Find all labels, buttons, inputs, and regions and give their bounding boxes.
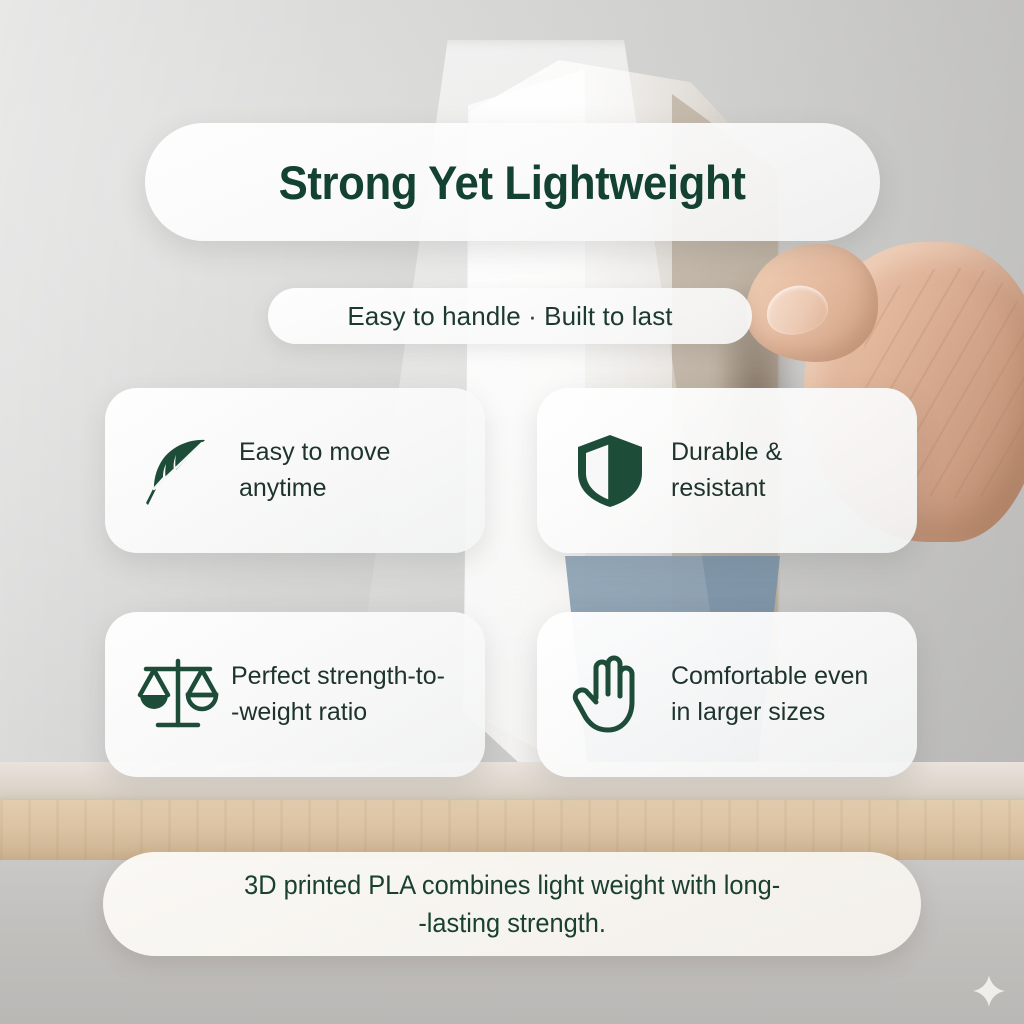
thumb [746,244,878,362]
open-hand-icon [565,650,655,740]
page-title: Strong Yet Lightweight [279,155,746,210]
feature-card-durable[interactable]: Durable & resistant [537,388,917,553]
feature-card-comfortable[interactable]: Comfortable even in larger sizes [537,612,917,777]
feature-label-line1: Durable & [671,438,782,466]
subtitle-pill: Easy to handle · Built to last [268,288,752,344]
feature-card-label: Comfortable even in larger sizes [671,659,868,730]
feather-icon [133,426,223,516]
feature-label-line1: Perfect strength-to- [231,662,445,690]
feature-card-label: Perfect strength-to- -weight ratio [231,659,445,730]
balance-scale-icon [133,650,223,740]
title-pill: Strong Yet Lightweight [145,123,880,241]
thumbnail [761,279,833,341]
feature-card-easy-to-move[interactable]: Easy to move anytime [105,388,485,553]
feature-label-line2: -weight ratio [231,698,367,726]
footer-caption: 3D printed PLA combines light weight wit… [244,866,780,943]
shield-icon [565,426,655,516]
infographic-canvas: Strong Yet Lightweight Easy to handle · … [0,0,1024,1024]
feature-card-strength-to-weight[interactable]: Perfect strength-to- -weight ratio [105,612,485,777]
feature-label-line2: resistant [671,474,765,502]
footer-pill: 3D printed PLA combines light weight wit… [103,852,921,956]
sparkle-icon [972,974,1006,1008]
feature-label-line2: in larger sizes [671,698,825,726]
feature-label-line2: anytime [239,474,327,502]
feature-card-label: Durable & resistant [671,435,782,506]
feature-label-line1: Comfortable even [671,662,868,690]
feature-label-line1: Easy to move [239,438,390,466]
page-subtitle: Easy to handle · Built to last [347,301,672,332]
feature-card-label: Easy to move anytime [239,435,390,506]
